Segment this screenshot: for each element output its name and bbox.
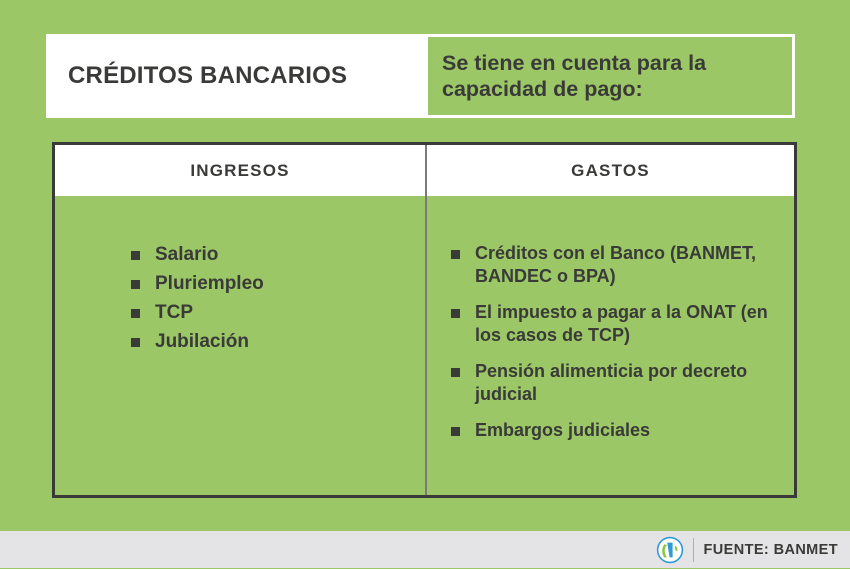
- table-body-row: Salario Pluriempleo TCP Jubilación: [55, 196, 794, 495]
- square-bullet-icon: [451, 368, 460, 377]
- list-item-label: Jubilación: [155, 331, 249, 352]
- comparison-table: INGRESOS GASTOS Salario Pluriempleo: [52, 142, 797, 498]
- square-bullet-icon: [451, 309, 460, 318]
- header-title-panel: CRÉDITOS BANCARIOS: [46, 34, 425, 118]
- page-title: CRÉDITOS BANCARIOS: [68, 62, 347, 90]
- infographic-root: CRÉDITOS BANCARIOS Se tiene en cuenta pa…: [0, 0, 850, 568]
- list-item: Pensión alimenticia por decreto judicial: [451, 360, 782, 406]
- gastos-list: Créditos con el Banco (BANMET, BANDEC o …: [427, 242, 794, 442]
- footer-bar: FUENTE: BANMET: [0, 531, 850, 568]
- column-header-label: INGRESOS: [190, 161, 289, 181]
- list-item: Embargos judiciales: [451, 419, 782, 442]
- table-header-cell-ingresos: INGRESOS: [55, 145, 425, 196]
- table-cell-gastos: Créditos con el Banco (BANMET, BANDEC o …: [425, 196, 794, 495]
- list-item: TCP: [131, 300, 425, 325]
- list-item-label: El impuesto a pagar a la ONAT (en los ca…: [475, 302, 768, 345]
- list-item-label: Pensión alimenticia por decreto judicial: [475, 361, 747, 404]
- header-subtitle-panel: Se tiene en cuenta para la capacidad de …: [425, 34, 795, 118]
- table-header-cell-gastos: GASTOS: [425, 145, 794, 196]
- list-item: Pluriempleo: [131, 271, 425, 296]
- square-bullet-icon: [451, 427, 460, 436]
- list-item-label: Pluriempleo: [155, 273, 264, 294]
- footer-divider: [693, 538, 694, 562]
- square-bullet-icon: [451, 250, 460, 259]
- list-item: Salario: [131, 242, 425, 267]
- header-row: CRÉDITOS BANCARIOS Se tiene en cuenta pa…: [46, 34, 795, 118]
- list-item-label: Salario: [155, 244, 218, 265]
- banmet-logo-icon: [656, 536, 684, 564]
- list-item: Créditos con el Banco (BANMET, BANDEC o …: [451, 242, 782, 288]
- square-bullet-icon: [131, 338, 140, 347]
- source-label: FUENTE: BANMET: [704, 542, 838, 558]
- list-item-label: TCP: [155, 302, 193, 323]
- square-bullet-icon: [131, 309, 140, 318]
- square-bullet-icon: [131, 251, 140, 260]
- table-cell-ingresos: Salario Pluriempleo TCP Jubilación: [55, 196, 425, 495]
- list-item: Jubilación: [131, 329, 425, 354]
- square-bullet-icon: [131, 280, 140, 289]
- list-item: El impuesto a pagar a la ONAT (en los ca…: [451, 301, 782, 347]
- table-header-row: INGRESOS GASTOS: [55, 145, 794, 196]
- column-header-label: GASTOS: [571, 161, 650, 181]
- list-item-label: Créditos con el Banco (BANMET, BANDEC o …: [475, 243, 756, 286]
- ingresos-list: Salario Pluriempleo TCP Jubilación: [55, 242, 425, 354]
- list-item-label: Embargos judiciales: [475, 420, 650, 440]
- header-subtitle: Se tiene en cuenta para la capacidad de …: [442, 50, 784, 102]
